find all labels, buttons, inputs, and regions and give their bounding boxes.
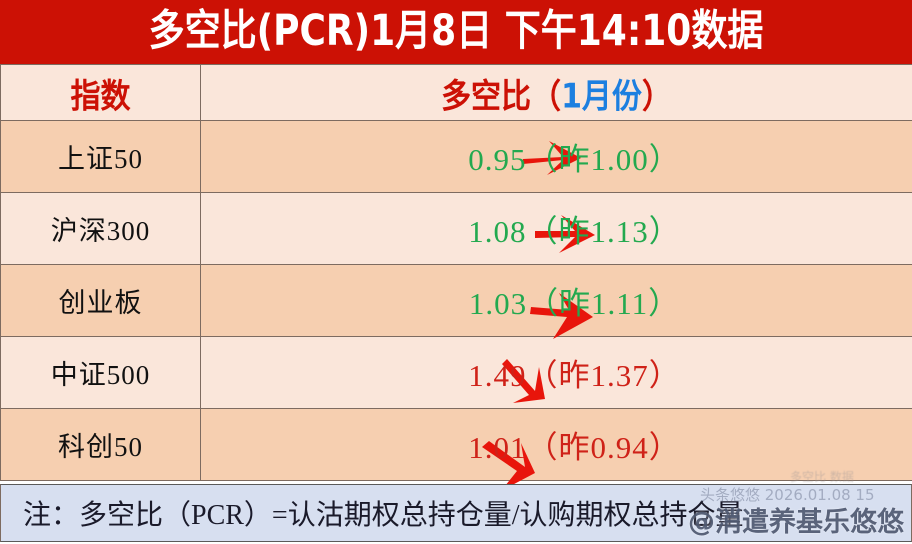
cell-ratio-value: 1.49（昨1.37）	[201, 337, 912, 409]
index-name-label: 上证50	[58, 144, 143, 174]
header-cell-ratio: 多空比（1月份）	[201, 65, 912, 121]
footnote-text: 注：多空比（PCR）=认沽期权总持仓量/认购期权总持仓量	[1, 493, 744, 533]
page-title: 多空比(PCR)1月8日 下午14:10数据	[149, 11, 764, 53]
header-ratio-prefix: 多空比（	[441, 77, 561, 116]
table-row: 科创50 1.01（昨0.94）	[1, 409, 912, 481]
cell-index-name: 上证50	[1, 121, 201, 193]
pcr-table: 指数 多空比（1月份） 上证50	[0, 64, 912, 481]
table-row: 上证50 0.95（昨1.00）	[1, 121, 912, 193]
table-header-row: 指数 多空比（1月份）	[1, 65, 912, 121]
table-row: 沪深300 1.08（昨1.13）	[1, 193, 912, 265]
header-ratio-suffix: ）	[642, 77, 672, 116]
pcr-table-image: 多空比(PCR)1月8日 下午14:10数据 指数 多空比（1月份） 上证50	[0, 0, 912, 544]
cell-index-name: 创业板	[1, 265, 201, 337]
index-name-label: 科创50	[58, 432, 143, 462]
cell-ratio-value: 0.95（昨1.00）	[201, 121, 912, 193]
index-name-label: 中证500	[51, 360, 151, 390]
index-name-label: 沪深300	[51, 216, 151, 246]
cell-index-name: 科创50	[1, 409, 201, 481]
cell-index-name: 中证500	[1, 337, 201, 409]
title-bar: 多空比(PCR)1月8日 下午14:10数据	[0, 0, 912, 64]
header-ratio-label: 多空比（1月份）	[441, 68, 672, 117]
table-row: 创业板 1.03（昨1.11）	[1, 265, 912, 337]
ratio-value: 1.03（昨1.11）	[469, 278, 680, 323]
header-cell-index: 指数	[1, 65, 201, 121]
cell-ratio-value: 1.08（昨1.13）	[201, 193, 912, 265]
ratio-value: 1.49（昨1.37）	[468, 350, 681, 395]
ratio-value: 1.01（昨0.94）	[468, 422, 681, 467]
watermark-faint: 多空比 数据	[790, 468, 854, 485]
header-index-label: 指数	[71, 68, 131, 117]
ratio-value: 1.08（昨1.13）	[468, 206, 681, 251]
cell-index-name: 沪深300	[1, 193, 201, 265]
ratio-value: 0.95（昨1.00）	[468, 134, 681, 179]
cell-ratio-value: 1.03（昨1.11）	[201, 265, 912, 337]
index-name-label: 创业板	[59, 288, 143, 318]
table-row: 中证500 1.49（昨1.37）	[1, 337, 912, 409]
watermark-main: @消遣养基乐悠悠	[688, 500, 904, 539]
header-ratio-month: 1月份	[561, 77, 642, 116]
